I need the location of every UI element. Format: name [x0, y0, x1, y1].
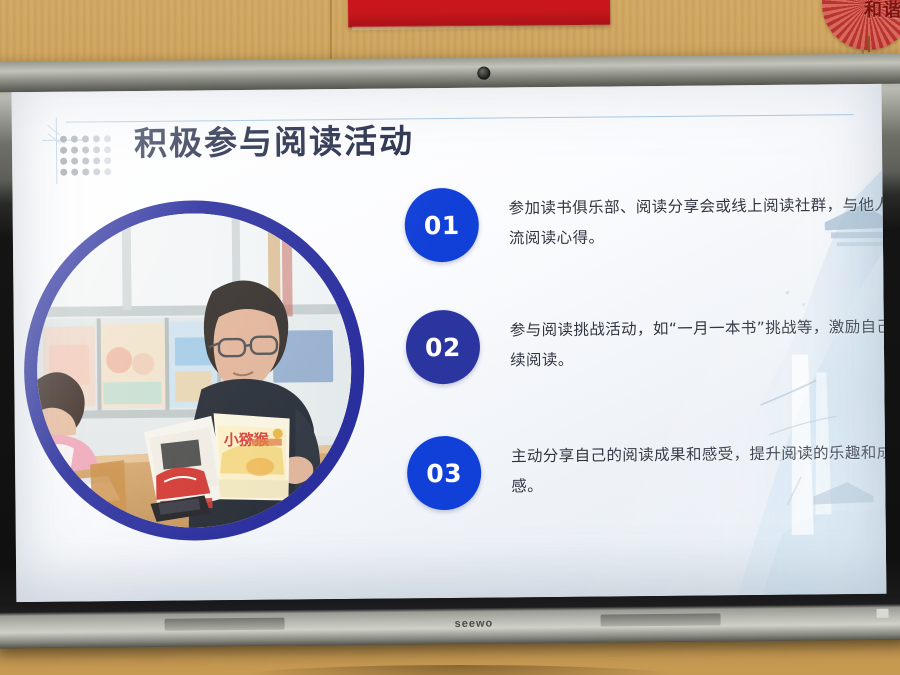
item-text: 参与阅读挑战活动，如“一月一本书”挑战等，激励自己持续阅读。 [510, 312, 887, 376]
grid-dot [71, 158, 78, 165]
grid-dot [104, 157, 111, 164]
grid-dot [60, 147, 67, 154]
device-brand: seewo [455, 618, 494, 630]
grid-dot [82, 135, 89, 142]
speaker-grille-right [601, 613, 721, 626]
grid-dot [60, 158, 67, 165]
item-number-badge: 01 [404, 188, 479, 263]
grid-dot [93, 135, 100, 142]
grid-dot [82, 168, 89, 175]
item-text: 参加读书俱乐部、阅读分享会或线上阅读社群，与他人交流阅读心得。 [508, 190, 886, 254]
classroom-scene: 和谐 [0, 0, 900, 675]
item-text: 主动分享自己的阅读成果和感受，提升阅读的乐趣和成就感。 [511, 438, 886, 502]
panel-shadow [230, 665, 690, 675]
slide-title: 积极参与阅读活动 [134, 124, 414, 160]
panel-bottom-bezel [0, 594, 900, 649]
slide-canvas[interactable]: 积极参与阅读活动 [11, 84, 886, 602]
camera-icon [477, 67, 490, 80]
photo-content: 小猕猴 [36, 212, 353, 529]
reading-photo: 小猕猴 [23, 199, 366, 542]
grid-dot [93, 146, 100, 153]
item-number-badge: 02 [406, 310, 481, 385]
speaker-grille-left [165, 618, 285, 631]
grid-dot [93, 168, 100, 175]
grid-dot [104, 168, 111, 175]
item-number-badge: 03 [407, 436, 482, 511]
grid-dot [82, 157, 89, 164]
fan-text: 和谐 [864, 0, 900, 22]
grid-dot [60, 169, 67, 176]
grid-dot [60, 136, 67, 143]
interactive-flat-panel: 积极参与阅读活动 [0, 54, 900, 649]
grid-dot [93, 157, 100, 164]
grid-dot [104, 146, 111, 153]
red-banner [348, 0, 611, 27]
grid-dot [71, 169, 78, 176]
grid-dot [104, 135, 111, 142]
dot-grid-decoration [58, 133, 113, 178]
power-button[interactable] [876, 609, 888, 618]
fan-stem-icon [868, 36, 870, 52]
grid-dot [71, 136, 78, 143]
grid-dot [82, 146, 89, 153]
grid-dot [71, 147, 78, 154]
